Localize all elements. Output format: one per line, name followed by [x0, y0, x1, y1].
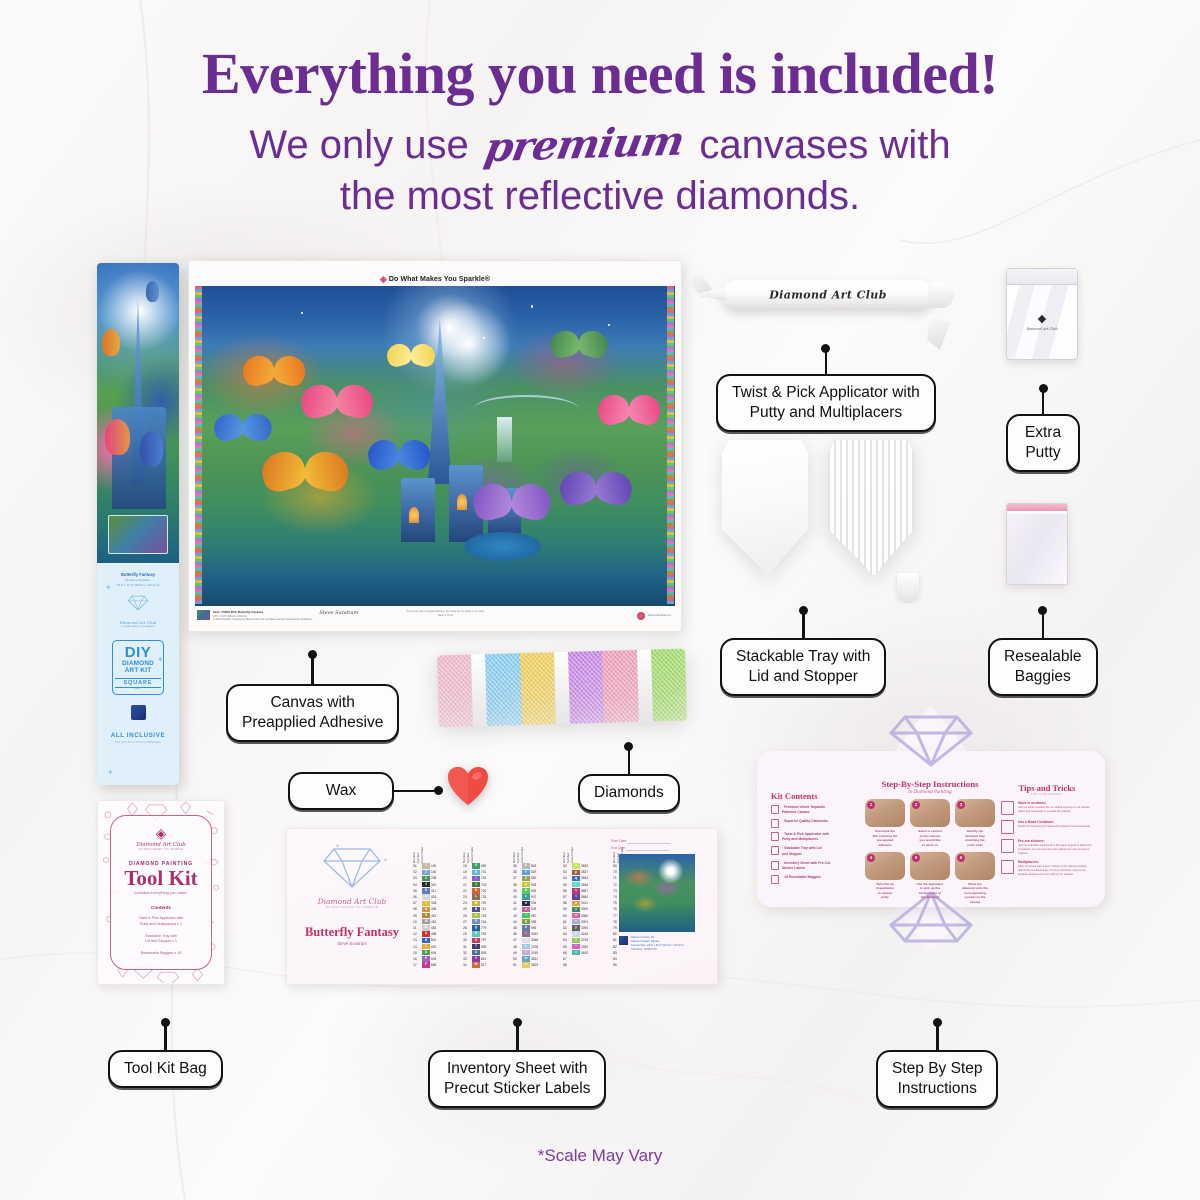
cell-number: 39 — [513, 889, 521, 893]
cell-color-code: 310 — [431, 883, 445, 887]
canvas-footer-artist: Steve Sundram — [319, 610, 358, 616]
inventory-title: Butterfly Fantasy — [297, 925, 407, 940]
page-subtitle: We only use premium canvases with the mo… — [0, 119, 1200, 222]
kit-contents-item: · Twist & Pick Applicator with Putty and… — [771, 832, 855, 842]
step-photo: 3 — [955, 799, 995, 827]
cell-color-code: 699 — [481, 864, 495, 868]
tip-description: Each kit comes with 3 and 7 plastic tip … — [1018, 865, 1093, 877]
tip-description: Use the individual stickers from the pap… — [1018, 844, 1093, 856]
callout-tray[interactable]: Stackable Tray with Lid and Stopper — [720, 606, 886, 696]
cell-number: 25 — [463, 907, 471, 911]
tray-stopper — [897, 573, 919, 599]
cell-color-code: 3846 — [581, 883, 595, 887]
cell-number: 49 — [513, 951, 521, 955]
cell-symbol: # — [572, 950, 580, 955]
canvas-footer-center-2: Made in China — [406, 615, 484, 619]
cell-number: 15 — [413, 951, 421, 955]
diamond-bag — [437, 655, 473, 728]
drill-swatch-icon — [131, 705, 146, 720]
kit-contents-label: · Twist & Pick Applicator with Putty and… — [782, 832, 829, 842]
cell-color-code: 3857 — [581, 889, 595, 893]
cell-color-code: 792 — [481, 932, 495, 936]
diamond-logo-icon: ◆ — [1038, 312, 1046, 325]
cell-color-code: 3042 — [531, 932, 545, 936]
cell-symbol: T — [472, 944, 480, 949]
cell-color-code: 3860 — [581, 895, 595, 899]
step-photo: 5 — [910, 852, 950, 880]
kit-line-1: DIAMOND — [115, 660, 161, 667]
cell-symbol: c — [522, 894, 530, 899]
cell-number: 24 — [463, 901, 471, 905]
inventory-column: NumberSymbolColor Code011150022160033208… — [413, 837, 458, 968]
cell-number: 44 — [513, 920, 521, 924]
cell-symbol: 6 — [422, 894, 430, 899]
instruction-step: 6Place the diamond onto the correspondin… — [955, 852, 995, 905]
cell-color-code: 3001 — [581, 920, 595, 924]
cell-number: 06 — [413, 895, 421, 899]
cell-color-code: 666 — [431, 963, 445, 967]
kit-line-2: ART KIT — [115, 667, 161, 674]
applicator-brand: Diamond Art Club — [769, 289, 887, 302]
canvas-footer: Item: 73205 DTC Butterfly Fantasy 23.6" … — [195, 606, 675, 630]
cell-color-code: 800 — [481, 945, 495, 949]
cell-color-code: 311 — [431, 889, 445, 893]
table-row: 68 — [563, 962, 608, 968]
cell-color-code: 743 — [481, 914, 495, 918]
cell-color-code: 906 — [531, 889, 545, 893]
cell-symbol: E — [422, 956, 430, 961]
stackable-tray-lid — [828, 440, 914, 575]
cell-number: 85 — [613, 963, 621, 967]
cell-color-code: 744 — [481, 920, 495, 924]
cell-color-code: 3811 — [531, 957, 545, 961]
tip-item: Multiplacers:Each kit comes with 3 and 7… — [1001, 860, 1093, 876]
all-inclusive-label: ALL INCLUSIVE — [102, 732, 174, 739]
cell-number: 60 — [563, 914, 571, 918]
cell-symbol: d — [522, 901, 530, 906]
cell-number: 26 — [463, 914, 471, 918]
kit-contents-icon — [771, 875, 779, 884]
cell-color-code: 720 — [481, 889, 495, 893]
diamond-bag — [485, 653, 521, 726]
instruction-step: 4Twist the tip of applicator to release … — [865, 852, 905, 905]
cell-color-code: 3390 — [581, 945, 595, 949]
canvas-color-key-right — [667, 286, 674, 604]
cell-color-code: 803 — [481, 951, 495, 955]
cell-color-code: 602 — [431, 945, 445, 949]
cell-number: 14 — [413, 945, 421, 949]
cell-number: 42 — [513, 907, 521, 911]
cell-number: 48 — [513, 945, 521, 949]
cell-symbol: x — [572, 919, 580, 924]
kit-contents-icon — [771, 819, 779, 828]
kit-contents-item: · Superior Quality Diamonds — [771, 819, 855, 828]
cell-symbol: o — [572, 863, 580, 868]
cell-number: 17 — [413, 963, 421, 967]
cell-number: 52 — [563, 864, 571, 868]
tip-icon — [1001, 860, 1014, 874]
cell-number: 41 — [513, 901, 521, 905]
cell-number: 55 — [563, 883, 571, 887]
cell-number: 01 — [413, 864, 421, 868]
cell-symbol: A — [422, 931, 430, 936]
callout-label: Canvas with Preapplied Adhesive — [226, 684, 399, 742]
cell-symbol: 1 — [422, 863, 430, 868]
cell-color-code: 415 — [431, 895, 445, 899]
cell-number: 61 — [563, 920, 571, 924]
subtitle-post: canvases with — [699, 123, 950, 167]
tip-description: Perfect for keeping your diamonds organi… — [1018, 825, 1091, 829]
kit-contents-item: · 15 Resealable Baggies — [771, 875, 855, 884]
cell-number: 18 — [463, 864, 471, 868]
tip-item: Pre-cut stickers:Use the individual stic… — [1001, 839, 1093, 855]
callout-toolkit[interactable]: Tool Kit Bag — [108, 1018, 223, 1088]
cell-number: 07 — [413, 901, 421, 905]
cell-symbol: 8 — [422, 907, 430, 912]
cell-number: 38 — [513, 883, 521, 887]
page-title: Everything you need is included! — [0, 44, 1200, 105]
cell-number: 21 — [463, 883, 471, 887]
tips-heading: Tips and Tricks — [1001, 783, 1093, 793]
cell-number: 12 — [413, 932, 421, 936]
end-date-label: End Date: — [611, 846, 626, 850]
callout-instructions[interactable]: Step By Step Instructions — [876, 1018, 998, 1108]
kit-contents-item: · Stackable Tray with Lid and Stopper — [771, 846, 855, 856]
cell-symbol: b — [522, 888, 530, 893]
callout-diamonds[interactable]: Diamonds — [578, 742, 680, 812]
cell-number: 37 — [513, 876, 521, 880]
step-caption: Twist the tip of applicator to release p… — [865, 882, 905, 901]
diamond-outline-icon — [320, 845, 384, 891]
product-box-artwork — [97, 263, 179, 563]
inventory-column: NumberSymbolColor Code52o383953p383754q3… — [563, 837, 608, 968]
cell-symbol: a — [522, 882, 530, 887]
drill-type-label: SQUARE — [115, 678, 161, 688]
cell-symbol: * — [572, 944, 580, 949]
table-row: 34W817 — [463, 962, 508, 968]
diamond-bag — [602, 650, 638, 723]
callout-applicator[interactable]: Twist & Pick Applicator with Putty and M… — [716, 344, 936, 432]
diamond-logo-icon — [127, 595, 149, 611]
cell-symbol: 11 — [422, 925, 430, 930]
callout-label: Wax — [288, 772, 394, 810]
canvas-header-tagline: ◈Do What Makes You Sparkle® — [380, 274, 490, 285]
cell-color-code: 498 — [431, 932, 445, 936]
cell-symbol: K — [472, 888, 480, 893]
cell-color-code: 452 — [431, 920, 445, 924]
table-row: 51n3819 — [513, 962, 558, 968]
inventory-column: NumberSymbolColor Code35X81836Y82937Z890… — [513, 837, 558, 968]
kit-contents-icon — [771, 846, 779, 855]
canvas-header: ◈Do What Makes You Sparkle® Diamond Art … — [195, 266, 675, 286]
cell-color-code: 3090 — [581, 926, 595, 930]
cell-symbol: 3 — [422, 876, 430, 881]
cell-number: 67 — [563, 957, 571, 961]
step-number: 4 — [867, 854, 875, 862]
cell-number: 51 — [513, 963, 521, 967]
tip-item: Work in sections:Use our clear reusable … — [1001, 801, 1093, 815]
cell-symbol: r — [572, 882, 580, 887]
kit-contents-label: · Stackable Tray with Lid and Stopper — [782, 846, 822, 856]
callout-label: Step By Step Instructions — [876, 1050, 998, 1108]
cell-number: 68 — [563, 963, 571, 967]
step-caption: Identify the diamond bag matching the co… — [955, 829, 995, 848]
cell-symbol: q — [572, 876, 580, 881]
cell-number: 35 — [513, 864, 521, 868]
cell-number: 66 — [563, 951, 571, 955]
table-row: 85 — [613, 962, 658, 968]
callout-label: Twist & Pick Applicator with Putty and M… — [716, 374, 936, 432]
cell-color-code: 907 — [531, 895, 545, 899]
cell-symbol: J — [472, 882, 480, 887]
step-caption: Peel back the film covering the pre-appl… — [865, 829, 905, 848]
cell-number: 11 — [413, 926, 421, 930]
cell-symbol: R — [472, 931, 480, 936]
callout-label: Tool Kit Bag — [108, 1050, 223, 1088]
cell-symbol: L — [472, 894, 480, 899]
extra-putty-bag: ◆ Diamond Art Club — [1006, 268, 1078, 360]
tool-kit-content-item: Resealable Baggies x 15 — [111, 951, 211, 957]
tool-kit-bag-panel: ◈ Diamond Art Club DO WHAT MAKES YOU SPA… — [110, 815, 212, 970]
cell-number: 13 — [413, 938, 421, 942]
column-header: Color Code — [421, 847, 424, 863]
cell-color-code: 3745 — [581, 938, 595, 942]
canvas-footer-url: DiamondArtClub.com — [648, 614, 671, 618]
cell-symbol: h — [522, 925, 530, 930]
cell-number: 54 — [563, 876, 571, 880]
tip-icon — [1001, 839, 1014, 853]
diamond-outline-icon — [885, 711, 977, 769]
cell-number: 40 — [513, 895, 521, 899]
cell-number: 65 — [563, 945, 571, 949]
cell-color-code: 150 — [431, 864, 445, 868]
cell-symbol: s — [572, 888, 580, 893]
cell-symbol: 10 — [422, 919, 430, 924]
callout-label: Diamonds — [578, 774, 680, 812]
column-header: Color Code — [571, 847, 574, 863]
kit-contents-item: · Inventory Sheet with Pre-Cut Sticker L… — [771, 861, 855, 871]
kit-contents-icon — [771, 832, 779, 841]
cell-number: 53 — [563, 870, 571, 874]
callout-baggies[interactable]: Resealable Baggies — [988, 606, 1098, 696]
resealable-baggie — [1006, 503, 1068, 585]
cell-number: 03 — [413, 876, 421, 880]
cell-color-code: 3060 — [581, 914, 595, 918]
cell-number: 10 — [413, 920, 421, 924]
cell-number: 33 — [463, 957, 471, 961]
cell-number: 31 — [463, 945, 471, 949]
tip-item: Use a Bead Container:Perfect for keeping… — [1001, 820, 1093, 834]
cell-number: 23 — [463, 895, 471, 899]
cell-color-code: 996 — [531, 926, 545, 930]
cell-number: 62 — [563, 926, 571, 930]
all-inclusive-sub: NO EXTRA TOOLS NEEDED — [102, 740, 174, 744]
instruction-step: 2Select a symbol on the canvas you would… — [910, 799, 950, 848]
table-row: 17F666 — [413, 962, 458, 968]
gem-icon: ◈ — [380, 274, 387, 284]
cell-number: 50 — [513, 957, 521, 961]
step-photo: 1 — [865, 799, 905, 827]
cell-symbol: f — [522, 913, 530, 918]
cell-color-code: 934 — [531, 901, 545, 905]
kit-contents-icon — [771, 861, 779, 870]
drill-swatch-icon — [619, 936, 628, 945]
drill-sub-label: DRILL — [115, 688, 161, 690]
cell-color-code: 3839 — [581, 864, 595, 868]
tool-kit-title: Tool Kit — [111, 867, 211, 889]
cell-color-code: 3610 — [581, 951, 595, 955]
cell-symbol: N — [472, 907, 480, 912]
cell-color-code: 604 — [431, 951, 445, 955]
instruction-step: 3Identify the diamond bag matching the c… — [955, 799, 995, 848]
cell-symbol: e — [522, 907, 530, 912]
diamond-bag — [651, 649, 687, 722]
cell-symbol: C — [422, 944, 430, 949]
cell-symbol: w — [572, 913, 580, 918]
tips-subheading: FOR YOUR PROJECT — [1001, 793, 1093, 796]
step-photo: 2 — [910, 799, 950, 827]
cell-color-code: 3708 — [531, 945, 545, 949]
step-number: 5 — [912, 854, 920, 862]
cell-color-code: 733 — [481, 895, 495, 899]
cell-symbol: l — [522, 950, 530, 955]
diamond-bags — [437, 649, 687, 728]
kit-contents-icon — [771, 805, 779, 814]
cell-number: 59 — [563, 907, 571, 911]
cell-number: 84 — [613, 957, 621, 961]
cell-symbol: y — [572, 925, 580, 930]
header: Everything you need is included! We only… — [0, 44, 1200, 222]
callout-inventory[interactable]: Inventory Sheet with Precut Sticker Labe… — [428, 1018, 606, 1108]
tool-kit-subtitle: Includes everything you need. — [111, 890, 211, 895]
cell-symbol: p — [572, 870, 580, 875]
cell-color-code: 939 — [531, 907, 545, 911]
step-by-step-instructions-sheet: Kit Contents · Premium Velvet Tarpaulin … — [757, 703, 1105, 955]
cell-symbol: Z — [522, 876, 530, 881]
cell-symbol: 7 — [422, 901, 430, 906]
cell-symbol: i — [522, 931, 530, 936]
cell-number: 58 — [563, 901, 571, 905]
cell-color-code: 890 — [531, 876, 545, 880]
cell-symbol: v — [572, 907, 580, 912]
diy-badge: DIY DIAMOND ART KIT SQUARE DRILL — [112, 640, 164, 695]
steps-subheading: to Diamond Painting — [865, 789, 995, 794]
cell-color-code: 605 — [431, 957, 445, 961]
cell-color-code: 740 — [481, 901, 495, 905]
cell-symbol: G — [472, 863, 480, 868]
canvas-product: ◈Do What Makes You Sparkle® Diamond Art … — [188, 260, 682, 632]
subtitle-pre: We only use — [249, 123, 468, 167]
cell-number: 34 — [463, 963, 471, 967]
diy-label: DIY — [115, 646, 161, 660]
cell-number: 19 — [463, 870, 471, 874]
callout-wax[interactable]: Wax — [288, 772, 394, 810]
kit-contents-label: · 15 Resealable Baggies — [782, 875, 821, 880]
box-design-size: 23.6" x 31.5" (60.0cm x 80.0cm) — [102, 583, 174, 588]
cell-number: 09 — [413, 914, 421, 918]
cell-number: 43 — [513, 914, 521, 918]
cell-symbol: n — [522, 962, 530, 967]
cell-symbol: M — [472, 901, 480, 906]
step-number: 3 — [957, 801, 965, 809]
cell-symbol: z — [572, 931, 580, 936]
start-date-label: Start Date: — [611, 839, 627, 843]
cell-color-code: 451 — [431, 914, 445, 918]
canvas-footer-thumbnail — [197, 610, 210, 620]
step-number: 2 — [912, 801, 920, 809]
cell-number: 27 — [463, 920, 471, 924]
callout-label: Inventory Sheet with Precut Sticker Labe… — [428, 1050, 606, 1108]
steps-block: Step-By-Step Instructions to Diamond Pai… — [865, 779, 995, 905]
kit-contents-heading: Kit Contents — [771, 791, 855, 801]
callout-canvas[interactable]: Canvas with Preapplied Adhesive — [226, 650, 399, 742]
cell-number: 28 — [463, 926, 471, 930]
tip-description: Use our clear reusable film for visible … — [1018, 806, 1093, 814]
cell-color-code: 813 — [481, 957, 495, 961]
callout-extra-putty[interactable]: Extra Putty — [1006, 384, 1080, 472]
cell-color-code: 208 — [431, 876, 445, 880]
kit-contents-label: · Premium Velvet Tarpaulin Patented Canv… — [782, 805, 825, 815]
box-brand-tagline: DO WHAT MAKES YOU SPARKLE — [102, 626, 174, 629]
tip-icon — [1001, 801, 1014, 815]
cell-number: 45 — [513, 926, 521, 930]
cell-symbol: Y — [522, 870, 530, 875]
cell-color-code: 829 — [531, 870, 545, 874]
tool-kit-brand-tagline: DO WHAT MAKES YOU SPARKLE — [111, 848, 211, 851]
cell-color-code: 818 — [531, 864, 545, 868]
applicator-cap — [928, 282, 954, 308]
step-caption: Select a symbol on the canvas you would … — [910, 829, 950, 848]
inventory-brand-tagline: DO WHAT MAKES YOU SPARKLE — [297, 906, 407, 909]
cell-number: 02 — [413, 870, 421, 874]
cell-symbol: g — [522, 919, 530, 924]
cell-color-code: 3346 — [531, 938, 545, 942]
cell-number: 47 — [513, 938, 521, 942]
instruction-step: 1Peel back the film covering the pre-app… — [865, 799, 905, 848]
cell-symbol — [622, 956, 630, 961]
tips-block: Tips and Tricks FOR YOUR PROJECT Work in… — [1001, 783, 1093, 877]
kit-contents-item: · Premium Velvet Tarpaulin Patented Canv… — [771, 805, 855, 815]
cell-number: 04 — [413, 883, 421, 887]
cell-symbol: X — [522, 863, 530, 868]
cell-symbol: O — [472, 913, 480, 918]
cell-color-code: 797 — [481, 938, 495, 942]
cell-color-code: 995 — [531, 920, 545, 924]
cell-color-code: 741 — [481, 907, 495, 911]
instruction-step: 5Use the applicator to pick up the facet… — [910, 852, 950, 905]
cell-symbol: k — [522, 944, 530, 949]
cell-symbol: u — [572, 901, 580, 906]
cell-symbol: 2 — [422, 870, 430, 875]
tool-kit-bag: ◈ Diamond Art Club DO WHAT MAKES YOU SPA… — [97, 800, 225, 985]
cell-color-code: 817 — [481, 963, 495, 967]
cell-color-code: 435 — [431, 901, 445, 905]
cell-number: 64 — [563, 938, 571, 942]
canvas-footer-note: © 2023 Sundram. Licensed by Diamond Art … — [213, 618, 312, 622]
inventory-column: NumberSymbolColor Code18G69919H70120I702… — [463, 837, 508, 968]
cell-symbol: t — [572, 894, 580, 899]
cell-symbol: m — [522, 956, 530, 961]
tool-kit-content-item: Twist & Pick Applicator with Putty and M… — [111, 916, 211, 927]
step-caption: Use the applicator to pick up the facete… — [910, 882, 950, 901]
cell-number: 16 — [413, 957, 421, 961]
cell-color-code: 3160 — [581, 932, 595, 936]
cell-symbol: U — [472, 950, 480, 955]
cell-color-code: 987 — [531, 914, 545, 918]
cell-symbol: I — [472, 876, 480, 881]
cell-symbol — [572, 956, 580, 961]
step-photo: 4 — [865, 852, 905, 880]
